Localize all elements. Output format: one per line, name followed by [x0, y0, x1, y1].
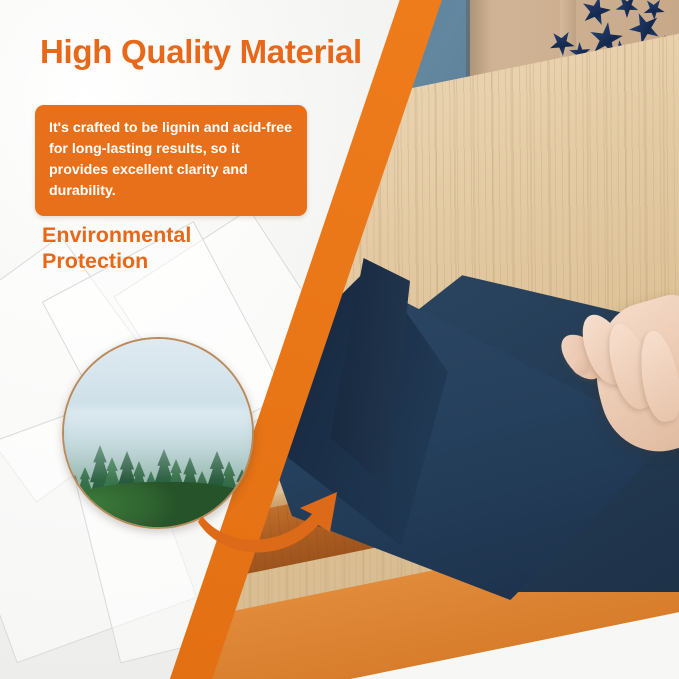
callout-box: It's crafted to be lignin and acid-free … — [35, 105, 307, 216]
star-shape — [578, 0, 614, 29]
page-title: High Quality Material — [40, 34, 390, 70]
curved-arrow-icon — [196, 486, 346, 556]
subheading-line-2: Protection — [42, 248, 272, 274]
callout-text: It's crafted to be lignin and acid-free … — [49, 118, 293, 202]
product-banner: High Quality Material It's crafted to be… — [0, 0, 679, 679]
star-shape — [610, 0, 643, 23]
forest-fog — [64, 407, 252, 482]
subheading-line-1: Environmental — [42, 222, 272, 248]
subheading: Environmental Protection — [42, 222, 272, 274]
